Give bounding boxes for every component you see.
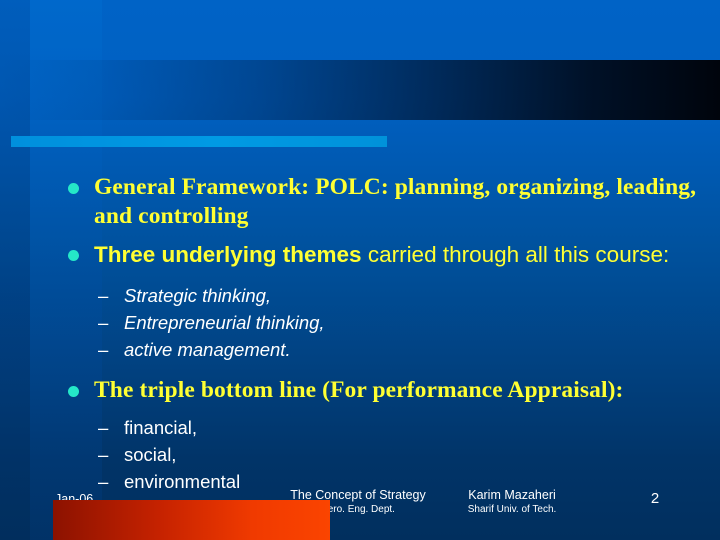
en-dash-icon: –	[98, 441, 124, 468]
sub-list-item: – Strategic thinking,	[98, 282, 704, 309]
bullet-item-3: The triple bottom line (For performance …	[0, 376, 720, 405]
bullet-item-3-label: The triple bottom line (For performance …	[94, 376, 704, 405]
footer-author-affiliation: Sharif Univ. of Tech.	[412, 503, 612, 516]
sub-list-item: – financial,	[98, 414, 704, 441]
en-dash-icon: –	[98, 282, 124, 309]
en-dash-icon: –	[98, 468, 124, 495]
bullet-item-2-emphasis: Three underlying themes	[94, 242, 362, 267]
sub-list-item-label: social,	[124, 441, 176, 468]
bullet-item-1: General Framework: POLC: planning, organ…	[0, 173, 720, 231]
bullet-dot-icon	[68, 250, 79, 261]
sub-list-item: – social,	[98, 441, 704, 468]
footer-author-name: Karim Mazaheri	[412, 488, 612, 503]
bullet-item-2: Three underlying themes carried through …	[0, 240, 720, 269]
spacer	[0, 269, 720, 282]
page-number: 2	[640, 490, 670, 507]
en-dash-icon: –	[98, 309, 124, 336]
cyan-accent-bar	[11, 136, 387, 147]
spacer	[0, 363, 720, 376]
en-dash-icon: –	[98, 336, 124, 363]
sub-list-2: – financial, – social, – environmental	[0, 414, 720, 495]
sub-list-item: – Entrepreneurial thinking,	[98, 309, 704, 336]
slide-content: General Framework: POLC: planning, organ…	[0, 173, 720, 495]
spacer	[0, 231, 720, 240]
bottom-accent-bar	[53, 500, 330, 540]
spacer	[0, 405, 720, 414]
footer-author: Karim Mazaheri Sharif Univ. of Tech.	[412, 488, 612, 516]
bullet-dot-icon	[68, 183, 79, 194]
sub-list-item-label: financial,	[124, 414, 197, 441]
bullet-dot-icon	[68, 386, 79, 397]
header-gradient-band	[0, 60, 720, 120]
presentation-slide: General Framework: POLC: planning, organ…	[0, 0, 720, 540]
en-dash-icon: –	[98, 414, 124, 441]
sub-list-item-label: Entrepreneurial thinking,	[124, 309, 325, 336]
bullet-item-2-rest: carried through all this course:	[362, 242, 670, 267]
bullet-item-1-label: General Framework: POLC: planning, organ…	[94, 173, 704, 231]
sub-list-item-label: Strategic thinking,	[124, 282, 271, 309]
sub-list-item: – active management.	[98, 336, 704, 363]
sub-list-item-label: environmental	[124, 468, 240, 495]
bullet-item-2-label: Three underlying themes carried through …	[94, 240, 704, 269]
sub-list-1: – Strategic thinking, – Entrepreneurial …	[0, 282, 720, 363]
sub-list-item-label: active management.	[124, 336, 291, 363]
